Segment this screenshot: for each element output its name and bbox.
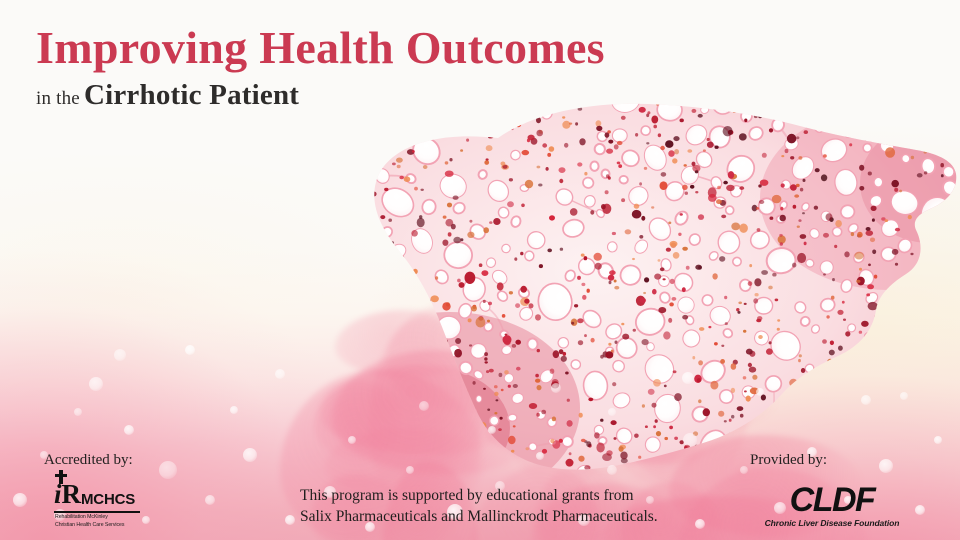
stained-nucleus [491,442,496,446]
stained-nucleus [596,126,602,131]
stained-nucleus [938,334,945,339]
stained-nucleus [726,185,735,191]
stained-nucleus [466,139,469,142]
stained-nucleus [868,264,871,267]
stained-nucleus [878,302,884,308]
fat-vacuole [745,429,761,443]
stained-nucleus [366,182,373,187]
stained-nucleus [652,403,657,408]
stained-nucleus [457,399,465,407]
stained-nucleus [515,340,521,345]
stained-nucleus [483,227,489,233]
stained-nucleus [392,453,397,458]
fat-vacuole [940,90,953,102]
stained-nucleus [511,450,514,453]
stained-nucleus [354,239,357,241]
stained-nucleus [353,461,356,465]
stained-nucleus [802,212,805,214]
stained-nucleus [755,293,759,296]
stained-nucleus [936,414,943,419]
stained-nucleus [420,410,426,415]
fat-vacuole [476,396,482,403]
stained-nucleus [420,299,426,305]
fat-vacuole [330,149,336,160]
stained-nucleus [710,381,718,390]
stained-nucleus [890,375,895,379]
stained-nucleus [956,238,959,241]
stained-nucleus [499,373,503,377]
stained-nucleus [352,177,355,180]
stained-nucleus [445,453,449,456]
stained-nucleus [818,100,822,103]
fat-vacuole [335,234,345,243]
stained-nucleus [550,439,554,443]
stained-nucleus [673,252,680,259]
stained-nucleus [349,185,357,192]
stained-nucleus [448,232,452,236]
stained-nucleus [756,111,759,113]
fat-vacuole [900,82,912,93]
stained-nucleus [953,161,958,166]
stained-nucleus [856,422,859,425]
stained-nucleus [855,436,860,439]
stained-nucleus [739,186,744,190]
stained-nucleus [670,279,675,284]
stained-nucleus [708,326,711,328]
stained-nucleus [875,315,879,318]
stained-nucleus [802,439,809,446]
stained-nucleus [877,120,880,123]
fat-vacuole [941,135,960,162]
stained-nucleus [680,119,684,123]
stained-nucleus [687,149,692,153]
stained-nucleus [926,110,930,114]
stained-nucleus [622,334,629,340]
stained-nucleus [406,424,411,429]
stained-nucleus [663,331,670,339]
fat-vacuole [886,354,915,380]
fat-vacuole [930,78,950,92]
fat-vacuole [332,177,350,194]
stained-nucleus [899,385,903,388]
stained-nucleus [342,303,347,308]
fat-vacuole [469,448,489,468]
stained-nucleus [768,286,773,290]
stained-nucleus [423,165,428,169]
stained-nucleus [488,302,492,306]
stained-nucleus [877,437,880,439]
stained-nucleus [649,464,653,467]
liver-tissue-group [330,78,960,478]
stained-nucleus [849,143,852,146]
fat-vacuole [843,125,854,138]
stained-nucleus [893,412,898,417]
stained-nucleus [445,161,449,164]
fat-vacuole [930,377,960,413]
page-title: Improving Health Outcomes [36,24,605,73]
stained-nucleus [581,283,585,286]
stained-nucleus [780,242,783,246]
fat-vacuole [478,472,489,478]
stained-nucleus [489,369,494,373]
stained-nucleus [836,113,843,121]
stained-nucleus [842,83,848,88]
irmchcs-subtext-line1: Rehabilitation McKinley [55,514,124,522]
stained-nucleus [421,189,424,191]
stained-nucleus [892,249,899,255]
stained-nucleus [642,404,645,407]
fat-vacuole [727,80,738,91]
stained-nucleus [484,352,488,356]
stained-nucleus [703,408,710,416]
stained-nucleus [335,428,342,437]
stained-nucleus [481,270,488,276]
fat-vacuole [802,98,810,105]
stained-nucleus [424,341,428,345]
stained-nucleus [413,428,416,431]
stained-nucleus [842,301,845,304]
stained-nucleus [693,431,698,436]
stained-nucleus [744,390,747,392]
fat-vacuole [757,419,775,437]
stained-nucleus [656,431,661,436]
stained-nucleus [923,111,929,117]
fat-vacuole [612,129,627,143]
stained-nucleus [890,432,893,436]
stained-nucleus [739,133,747,140]
stained-nucleus [453,196,459,200]
stained-nucleus [690,185,694,189]
title-block: Improving Health Outcomes in the Cirrhot… [36,24,605,112]
stained-nucleus [937,363,941,367]
stained-nucleus [917,173,923,177]
stained-nucleus [901,425,904,428]
stained-nucleus [770,217,774,220]
stained-nucleus [831,296,835,300]
fat-vacuole [881,431,901,450]
stained-nucleus [748,363,752,367]
stained-nucleus [374,375,377,377]
stained-nucleus [515,303,520,308]
stained-nucleus [487,320,490,323]
stained-nucleus [392,369,398,376]
stained-nucleus [928,274,936,282]
stained-nucleus [486,370,489,373]
stained-nucleus [493,218,500,225]
fat-vacuole [911,103,925,117]
stained-nucleus [739,224,748,233]
stained-nucleus [587,289,590,293]
stained-nucleus [934,109,942,117]
stained-nucleus [442,240,448,246]
stained-nucleus [513,384,518,388]
stained-nucleus [483,388,486,390]
stained-nucleus [442,302,450,310]
stained-nucleus [708,194,717,202]
stained-nucleus [929,109,934,114]
stained-nucleus [465,272,476,284]
stained-nucleus [347,292,350,295]
stained-nucleus [346,366,349,369]
stained-nucleus [399,255,404,259]
stained-nucleus [737,406,744,411]
stained-nucleus [498,428,502,431]
stained-nucleus [855,133,859,137]
stained-nucleus [748,281,753,286]
stained-nucleus [780,416,786,421]
stained-nucleus [330,350,338,361]
fat-vacuole [363,394,380,413]
stained-nucleus [781,183,785,187]
stained-nucleus [668,150,674,157]
stained-nucleus [878,89,881,92]
stained-nucleus [885,147,895,158]
stained-nucleus [750,388,759,395]
stained-nucleus [539,264,543,268]
stained-nucleus [538,184,542,187]
fat-vacuole [903,282,929,307]
stained-nucleus [401,114,407,121]
fat-vacuole [347,262,358,273]
stained-nucleus [853,419,858,423]
stained-nucleus [680,213,683,216]
stained-nucleus [497,282,504,290]
stained-nucleus [882,114,885,117]
fat-vacuole [641,126,650,135]
stained-nucleus [562,116,565,118]
support-line-2: Salix Pharmaceuticals and Mallinckrodt P… [300,506,658,527]
stained-nucleus [673,370,677,373]
stained-nucleus [746,396,751,402]
stained-nucleus [872,250,876,255]
fat-vacuole [435,393,448,405]
stained-nucleus [384,188,388,191]
stained-nucleus [797,226,800,228]
stained-nucleus [385,466,390,471]
stained-nucleus [746,349,753,355]
stained-nucleus [512,344,516,348]
stained-nucleus [460,149,463,152]
fat-vacuole [330,473,338,478]
stained-nucleus [358,348,361,351]
stained-nucleus [338,226,342,231]
stained-nucleus [584,465,590,470]
fat-vacuole [894,287,905,298]
accredited-by-label: Accredited by: [44,452,274,469]
stained-nucleus [676,82,684,89]
stained-nucleus [943,110,948,116]
stained-nucleus [634,434,639,438]
stained-nucleus [859,186,864,191]
stained-nucleus [620,452,627,460]
stained-nucleus [737,311,740,314]
fat-vacuole [360,232,370,241]
stained-nucleus [913,355,917,358]
stained-nucleus [658,259,661,262]
fat-vacuole [394,468,407,478]
stained-nucleus [383,244,388,248]
stained-nucleus [682,185,688,190]
stained-nucleus [559,179,563,183]
fat-vacuole [460,465,474,478]
stained-nucleus [510,472,514,475]
fat-vacuole [452,386,462,396]
stained-nucleus [635,133,638,137]
stained-nucleus [509,178,513,181]
fibrous-septum [382,116,423,117]
stained-nucleus [547,153,551,157]
stained-nucleus [608,275,614,281]
stained-nucleus [600,419,603,422]
stained-nucleus [789,379,797,387]
stained-nucleus [564,143,568,148]
stained-nucleus [411,417,417,423]
stained-nucleus [367,394,372,398]
stained-nucleus [859,331,862,334]
stained-nucleus [562,121,570,129]
stained-nucleus [780,207,783,211]
stained-nucleus [427,335,430,337]
stained-nucleus [695,445,698,447]
stained-nucleus [404,176,411,182]
stained-nucleus [447,203,452,208]
stained-nucleus [721,215,726,219]
fat-vacuole [784,103,805,124]
fat-vacuole [776,413,806,443]
stained-nucleus [581,439,586,442]
stained-nucleus [772,195,782,203]
stained-nucleus [841,390,847,397]
stained-nucleus [790,156,794,159]
stained-nucleus [793,205,797,209]
stained-nucleus [553,350,560,358]
accreditation-block: Accredited by: i R MCHCS Rehabilitation … [44,452,274,529]
stained-nucleus [668,222,671,225]
stained-nucleus [834,245,837,248]
stained-nucleus [856,280,860,283]
stained-nucleus [684,164,687,167]
fat-vacuole [354,123,371,140]
stained-nucleus [703,149,706,151]
fat-vacuole [334,214,343,225]
stained-nucleus [653,425,656,428]
stained-nucleus [595,263,602,270]
fat-vacuole [619,176,628,184]
fat-vacuole [624,463,633,473]
stained-nucleus [484,357,487,361]
stained-nucleus [853,443,857,446]
stained-nucleus [391,307,394,310]
cldf-wordmark: CLDF [732,483,932,517]
stained-nucleus [337,126,340,129]
stained-nucleus [763,438,769,444]
fat-vacuole [361,313,374,327]
stained-nucleus [529,403,537,409]
stained-nucleus [537,349,540,352]
stained-nucleus [378,122,385,128]
fat-vacuole [882,92,907,117]
stained-nucleus [433,467,437,471]
fat-vacuole [944,107,960,125]
stained-nucleus [788,87,793,90]
stained-nucleus [753,429,756,432]
stained-nucleus [372,192,377,197]
stained-nucleus [581,254,585,257]
stained-nucleus [749,95,752,97]
stained-nucleus [919,227,924,230]
stained-nucleus [753,298,758,303]
stained-nucleus [397,306,402,311]
fat-vacuole [335,456,346,466]
stained-nucleus [740,414,744,418]
stained-nucleus [678,233,681,236]
stained-nucleus [586,441,591,447]
stained-nucleus [705,84,711,90]
stained-nucleus [567,420,573,427]
stained-nucleus [641,216,645,221]
stained-nucleus [614,437,617,440]
stained-nucleus [738,441,743,445]
stained-nucleus [606,149,613,154]
stained-nucleus [400,142,404,147]
stained-nucleus [781,155,784,157]
stained-nucleus [596,120,602,126]
stained-nucleus [843,319,846,321]
stained-nucleus [509,291,513,294]
stained-nucleus [665,140,673,148]
stained-nucleus [756,433,761,438]
stained-nucleus [754,278,761,286]
fat-vacuole [332,359,341,369]
stained-nucleus [515,464,519,468]
stained-nucleus [891,413,896,417]
stained-nucleus [578,340,583,345]
stained-nucleus [925,284,928,287]
stained-nucleus [405,120,413,129]
stained-nucleus [766,348,773,354]
stained-nucleus [796,136,799,139]
stained-nucleus [349,338,353,341]
stained-nucleus [370,142,374,146]
stained-nucleus [387,138,390,140]
stained-nucleus [718,411,724,417]
stained-nucleus [594,432,600,438]
stained-nucleus [844,251,849,257]
stained-nucleus [621,323,624,326]
stained-nucleus [891,80,895,84]
stained-nucleus [632,258,635,260]
stained-nucleus [826,408,829,410]
fat-vacuole [777,88,795,106]
stained-nucleus [954,304,959,309]
stained-nucleus [955,188,958,191]
stained-nucleus [698,360,703,365]
stained-nucleus [664,437,668,440]
stained-nucleus [489,221,492,224]
stained-nucleus [501,389,504,391]
stained-nucleus [396,282,400,286]
stained-nucleus [342,457,347,463]
stained-nucleus [800,117,803,120]
stained-nucleus [431,295,439,302]
stained-nucleus [617,162,621,165]
stained-nucleus [517,117,520,120]
stained-nucleus [525,180,533,189]
stained-nucleus [761,395,766,401]
stained-nucleus [895,228,900,232]
stained-nucleus [913,377,919,381]
stained-nucleus [340,254,346,259]
